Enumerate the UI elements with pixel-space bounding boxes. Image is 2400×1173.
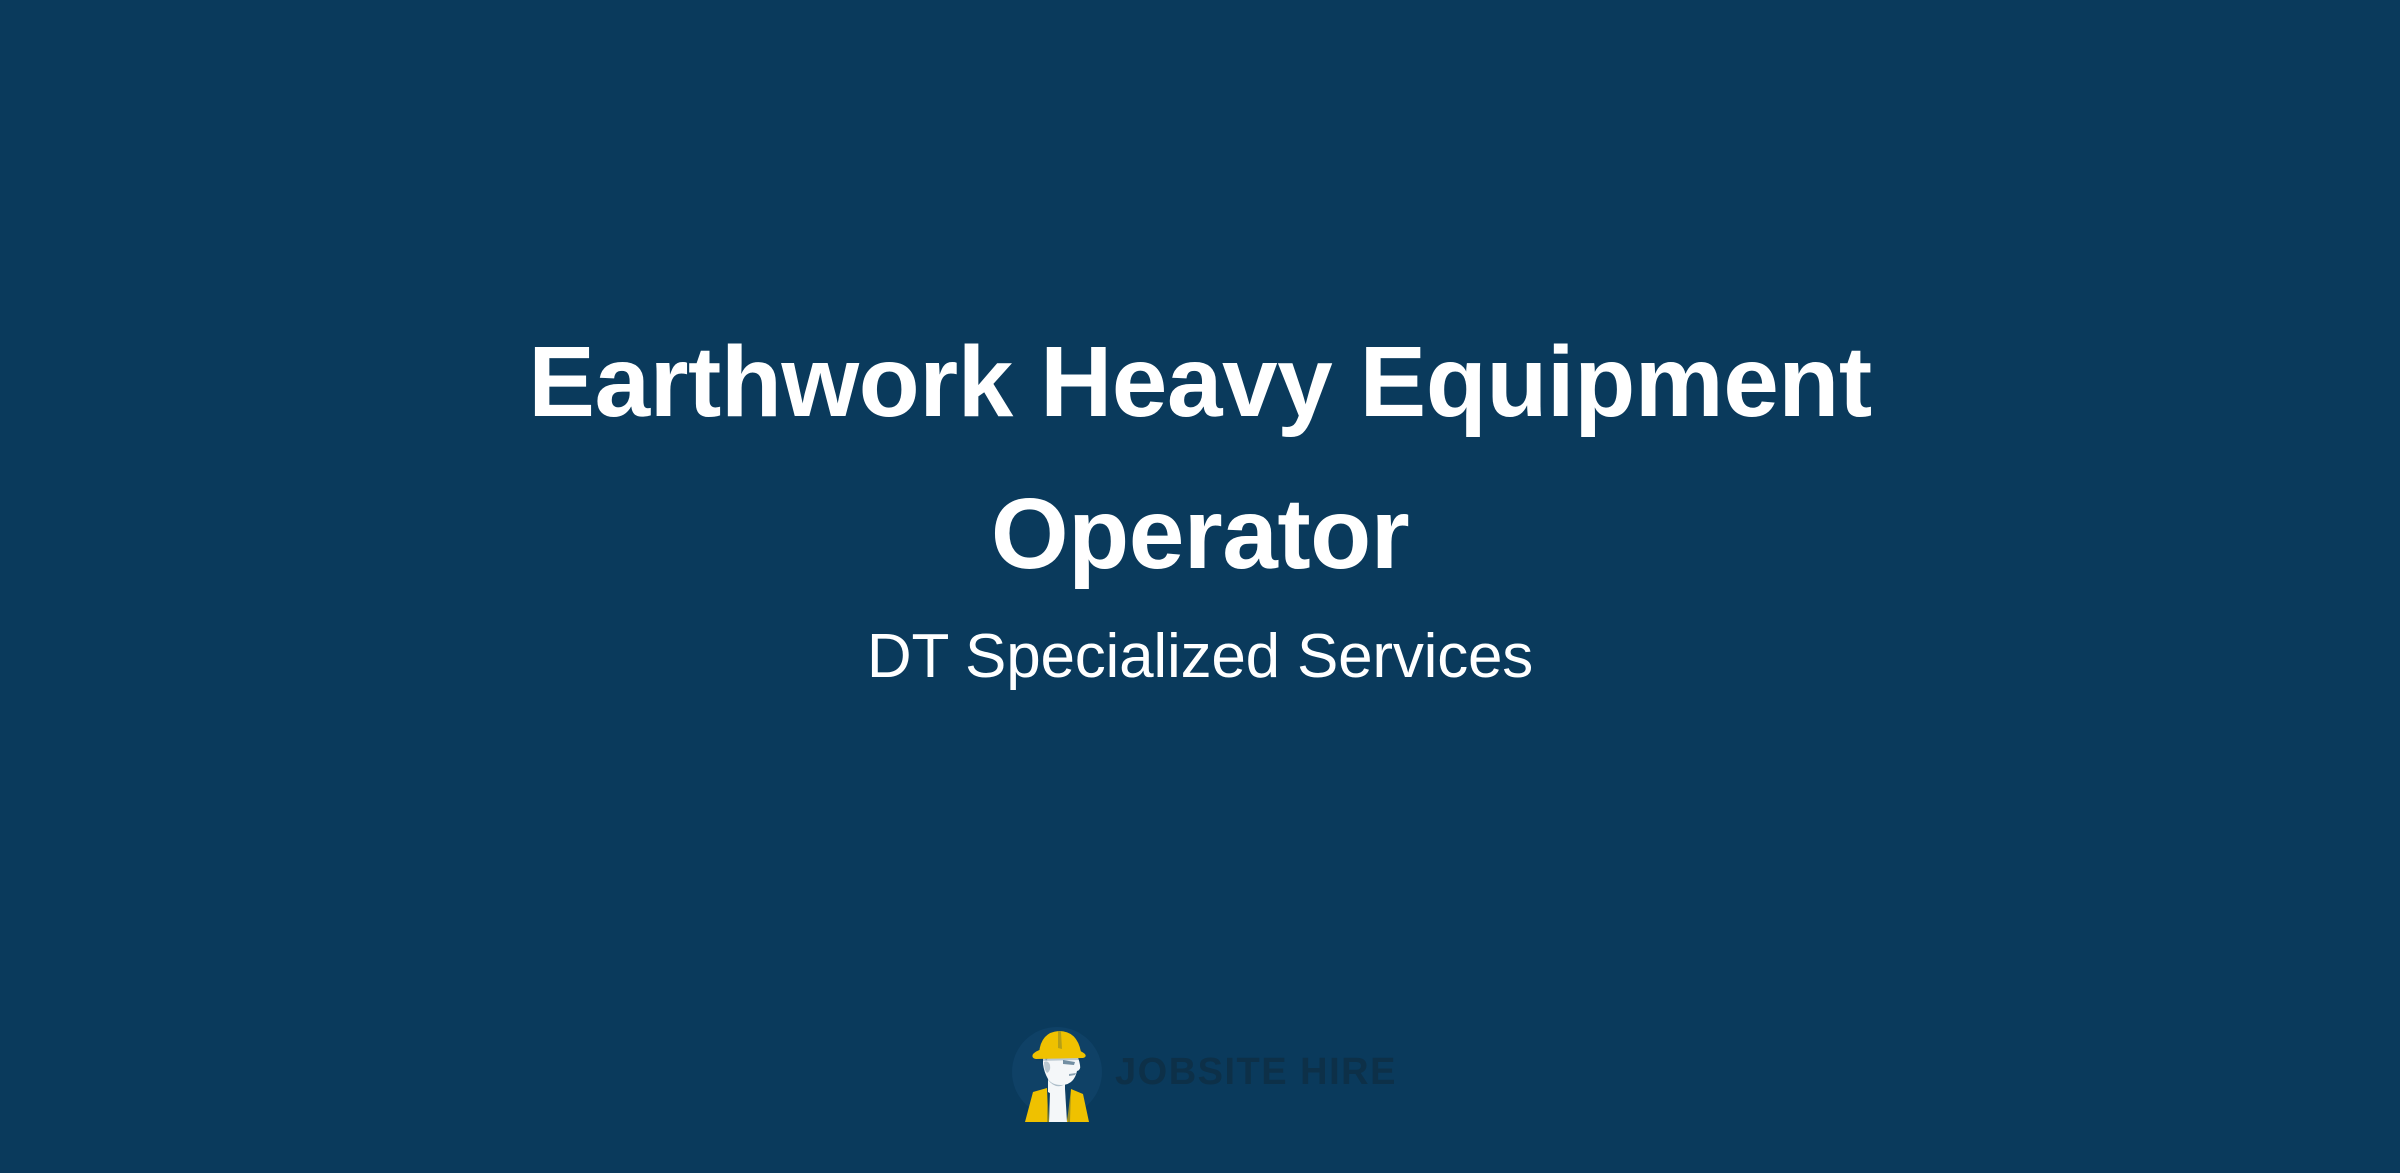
company-name: DT Specialized Services [867,610,1533,698]
logo-mark-wrapper [1003,1018,1111,1126]
hero-text-block: Earthwork Heavy Equipment Operator DT Sp… [0,306,2400,698]
brand-logo[interactable]: JOBSITE HIRE [0,1018,2400,1126]
construction-worker-hardhat-icon [1003,1018,1111,1126]
brand-wordmark: JOBSITE HIRE [1115,1052,1397,1092]
page-title: Earthwork Heavy Equipment Operator [400,306,2000,610]
job-posting-slide: Earthwork Heavy Equipment Operator DT Sp… [0,0,2400,1173]
